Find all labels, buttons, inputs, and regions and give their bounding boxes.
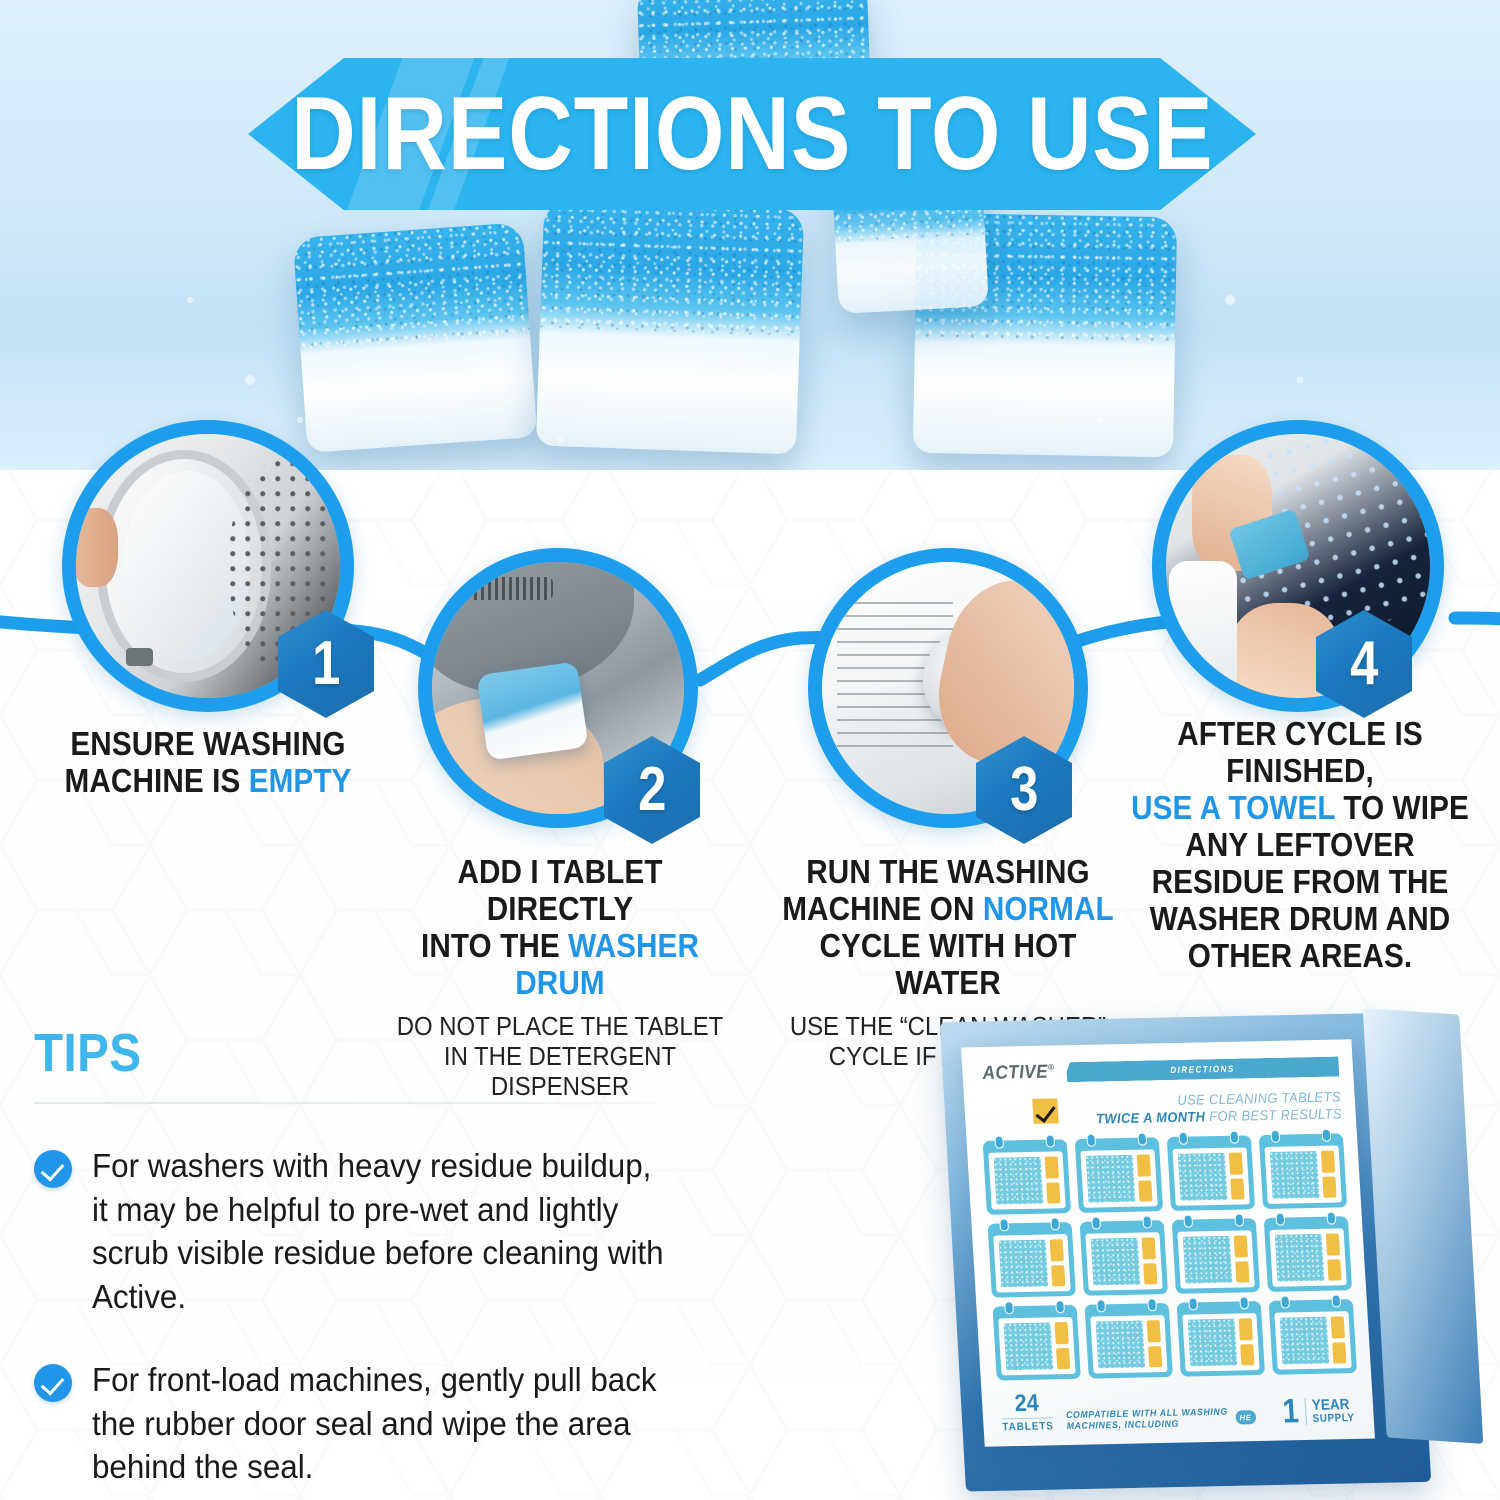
usage-instruction-row: USE CLEANING TABLETS TWICE A MONTH FOR B… — [980, 1088, 1342, 1129]
step-1-text: ENSURE WASHING MACHINE IS EMPTY — [37, 726, 379, 800]
step-3-number: 3 — [1010, 759, 1038, 821]
step-3-line3: CYCLE WITH HOT WATER — [779, 928, 1117, 1002]
tips-divider — [34, 1102, 656, 1104]
calendar-icon — [988, 1222, 1076, 1298]
step-3: 3 RUN THE WASHING MACHINE ON NORMAL CYCL… — [808, 548, 1088, 828]
calendar-grid — [983, 1133, 1357, 1380]
step-2-number-badge: 2 — [604, 736, 700, 844]
compatibility-text: COMPATIBLE WITH ALL WASHING MACHINES, IN… — [1066, 1407, 1231, 1432]
step-4-line3: ANY LEFTOVER RESIDUE FROM THE WASHER DRU… — [1129, 827, 1471, 975]
step-3-number-badge: 3 — [976, 736, 1072, 844]
lid-footer: 24 TABLETS COMPATIBLE WITH ALL WASHING M… — [998, 1385, 1361, 1433]
supply-number: 1 — [1282, 1397, 1300, 1428]
tip-item: For washers with heavy residue buildup, … — [34, 1144, 694, 1318]
usage-strong: TWICE A MONTH — [1096, 1108, 1206, 1126]
yellow-checkbox-icon — [1032, 1098, 1058, 1123]
step-3-photo-ring-wrap: 3 — [808, 548, 1088, 828]
product-box-photo: ACTIVE® DIRECTIONS USE CLEANING TABLETS … — [905, 995, 1500, 1500]
tips-section: TIPS For washers with heavy residue buil… — [34, 1026, 694, 1489]
calendar-icon — [1264, 1216, 1352, 1292]
calendar-icon — [1167, 1135, 1255, 1211]
directions-label: DIRECTIONS — [1170, 1064, 1235, 1075]
step-1-highlight: EMPTY — [249, 762, 352, 799]
step-1-photo-ring-wrap: 1 — [62, 420, 354, 712]
supply-line-2: SUPPLY — [1313, 1413, 1356, 1425]
step-1-number: 1 — [312, 633, 340, 695]
calendar-icon — [1085, 1303, 1173, 1379]
tip-text: For washers with heavy residue buildup, … — [92, 1144, 664, 1318]
step-2-photo-ring-wrap: 2 — [418, 548, 698, 828]
step-1-number-badge: 1 — [278, 610, 374, 718]
step-4: 4 AFTER CYCLE IS FINISHED, USE A TOWEL T… — [1152, 420, 1444, 712]
brand-mark: ® — [1047, 1062, 1054, 1072]
step-3-line2-pre: MACHINE ON — [782, 890, 983, 927]
calendar-icon — [1075, 1137, 1163, 1213]
step-3-highlight: NORMAL — [983, 890, 1114, 927]
step-2-line1: ADD I TABLET DIRECTLY — [394, 854, 725, 928]
step-2-text: ADD I TABLET DIRECTLY INTO THE WASHER DR… — [394, 854, 725, 1002]
step-1-caption: ENSURE WASHING MACHINE IS EMPTY — [18, 726, 398, 800]
usage-line-2-rest: FOR BEST RESULTS — [1205, 1105, 1342, 1124]
calendar-icon — [1269, 1299, 1357, 1375]
step-4-photo-ring-wrap: 4 — [1152, 420, 1444, 712]
step-2: 2 ADD I TABLET DIRECTLY INTO THE WASHER … — [418, 548, 698, 828]
calendar-icon — [1259, 1133, 1347, 1209]
directions-banner: DIRECTIONS — [1066, 1057, 1339, 1083]
brand-name: ACTIVE — [982, 1062, 1049, 1084]
infographic-page: DIRECTIONS TO USE 1 — [0, 0, 1500, 1500]
calendar-icon — [1172, 1218, 1260, 1294]
supply-duration: 1 YEAR SUPPLY — [1281, 1395, 1360, 1427]
step-4-highlight: USE A TOWEL — [1131, 789, 1335, 826]
step-4-number-badge: 4 — [1316, 610, 1412, 718]
step-4-line1: AFTER CYCLE IS FINISHED, — [1129, 716, 1471, 790]
check-circle-icon — [34, 1364, 72, 1402]
step-2-number: 2 — [638, 759, 666, 821]
step-3-line1: RUN THE WASHING — [779, 854, 1117, 891]
step-4-number: 4 — [1350, 633, 1378, 695]
usage-text: USE CLEANING TABLETS TWICE A MONTH FOR B… — [1066, 1088, 1342, 1127]
step-1-line2-pre: MACHINE IS — [65, 762, 249, 799]
he-logo-icon: HE — [1235, 1410, 1256, 1424]
step-2-line2-pre: INTO THE — [421, 927, 568, 964]
tablet-count-label: TABLETS — [1002, 1417, 1054, 1433]
calendar-icon — [983, 1139, 1071, 1215]
step-4-caption: AFTER CYCLE IS FINISHED, USE A TOWEL TO … — [1110, 716, 1490, 975]
calendar-icon — [1080, 1220, 1168, 1296]
tip-text: For front-load machines, gently pull bac… — [92, 1358, 664, 1489]
compatibility-note: COMPATIBLE WITH ALL WASHING MACHINES, IN… — [1066, 1406, 1257, 1432]
tablet-count: 24 TABLETS — [998, 1391, 1057, 1433]
tip-item: For front-load machines, gently pull bac… — [34, 1358, 694, 1489]
check-circle-icon — [34, 1150, 72, 1188]
step-3-text: RUN THE WASHING MACHINE ON NORMAL CYCLE … — [779, 854, 1117, 1002]
box-lid-insert: ACTIVE® DIRECTIONS USE CLEANING TABLETS … — [961, 1039, 1375, 1446]
tablet-count-number: 24 — [1000, 1391, 1053, 1416]
step-1: 1 ENSURE WASHING MACHINE IS EMPTY — [62, 420, 354, 712]
step-4-line2-post: TO WIPE — [1335, 789, 1469, 826]
step-1-line1: ENSURE WASHING — [37, 726, 379, 763]
brand-logo: ACTIVE® — [982, 1061, 1055, 1084]
page-title-banner: DIRECTIONS TO USE — [248, 58, 1256, 210]
calendar-icon — [992, 1305, 1080, 1381]
step-4-text: AFTER CYCLE IS FINISHED, USE A TOWEL TO … — [1129, 716, 1471, 975]
page-title: DIRECTIONS TO USE — [291, 82, 1213, 186]
calendar-icon — [1177, 1301, 1265, 1377]
lid-header: ACTIVE® DIRECTIONS — [978, 1056, 1339, 1086]
tips-heading: TIPS — [34, 1026, 615, 1080]
supply-label: YEAR SUPPLY — [1305, 1397, 1360, 1425]
